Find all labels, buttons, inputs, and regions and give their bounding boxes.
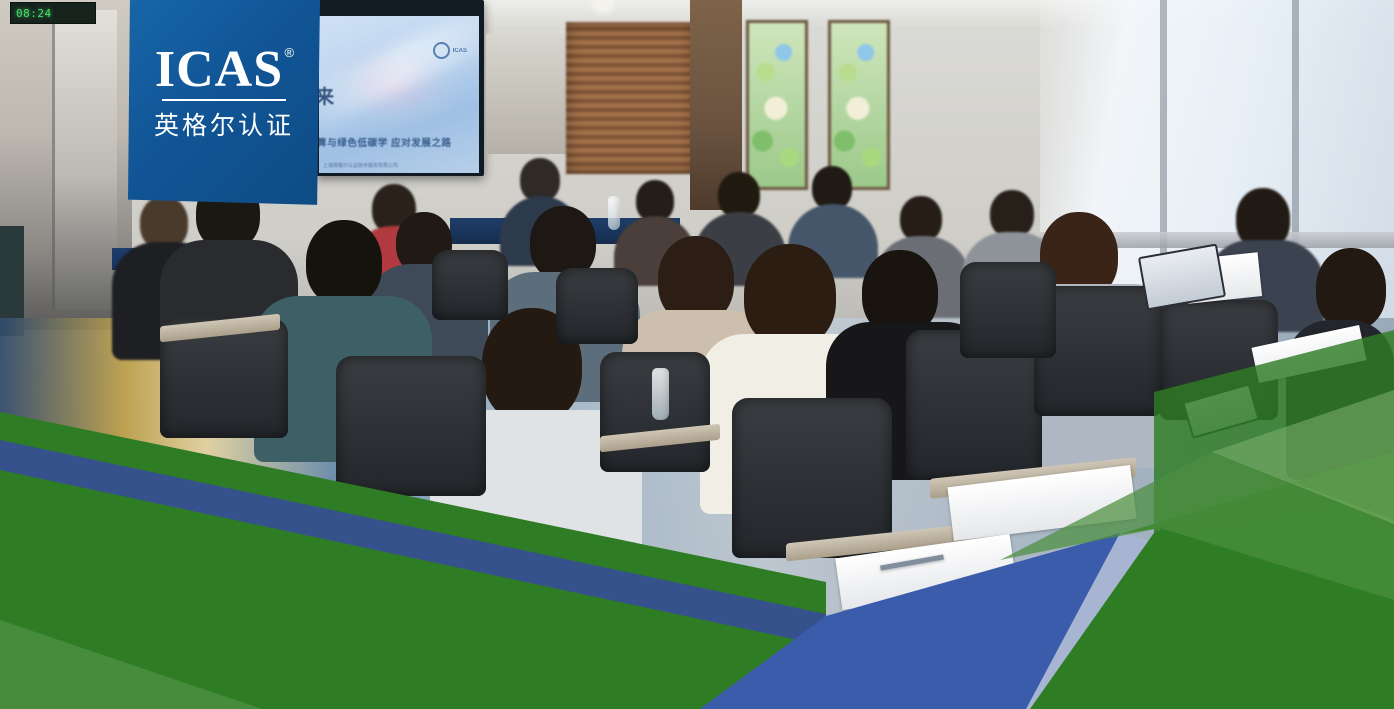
- led-clock-value: 08:24: [16, 8, 52, 19]
- chair: [556, 268, 638, 344]
- chair: [960, 262, 1056, 358]
- slide-title: 来: [319, 82, 335, 109]
- wall-artwork: [746, 20, 808, 190]
- registered-trademark-icon: ®: [285, 46, 296, 59]
- wall-artwork: [828, 20, 890, 190]
- icas-wordmark-text: ICAS: [155, 41, 283, 98]
- projection-screen: ICAS 来 核算与绿色低碳学 应对发展之路 上海英格尔认证技术服务有限公司: [316, 0, 484, 176]
- slide-subtitle: 核算与绿色低碳学 应对发展之路: [319, 135, 452, 149]
- slide-logo-ring-icon: [433, 42, 450, 59]
- attendee-head: [1316, 248, 1386, 330]
- screen-glare: [319, 16, 479, 126]
- door-frame: [52, 10, 117, 310]
- window-blinds: [566, 22, 694, 174]
- attendee-head: [744, 244, 836, 348]
- slide-footnote: 上海英格尔认证技术服务有限公司: [323, 162, 398, 169]
- icas-chinese-name: 英格尔认证: [154, 106, 294, 142]
- logo-divider: [162, 99, 286, 101]
- icas-logo-block: ICAS ® 英格尔认证: [128, 0, 320, 208]
- led-clock-display: 08:24: [10, 2, 96, 24]
- attendee-head: [990, 190, 1034, 238]
- chair: [432, 250, 508, 320]
- icas-wordmark: ICAS ®: [155, 44, 293, 96]
- chair: [336, 356, 486, 496]
- wall-panel-light: [486, 34, 568, 154]
- projection-screen-surface: ICAS 来 核算与绿色低碳学 应对发展之路 上海英格尔认证技术服务有限公司: [319, 16, 479, 173]
- banner-root: 08:24 ICAS 来 核算与绿色低碳学 应对发展之路 上海英格尔认证技术服务…: [0, 0, 1394, 709]
- slide-logo: ICAS: [433, 42, 467, 59]
- attendee-head: [306, 220, 382, 306]
- slide-logo-text: ICAS: [453, 48, 467, 54]
- water-bottle: [608, 196, 620, 230]
- water-bottle: [652, 368, 669, 420]
